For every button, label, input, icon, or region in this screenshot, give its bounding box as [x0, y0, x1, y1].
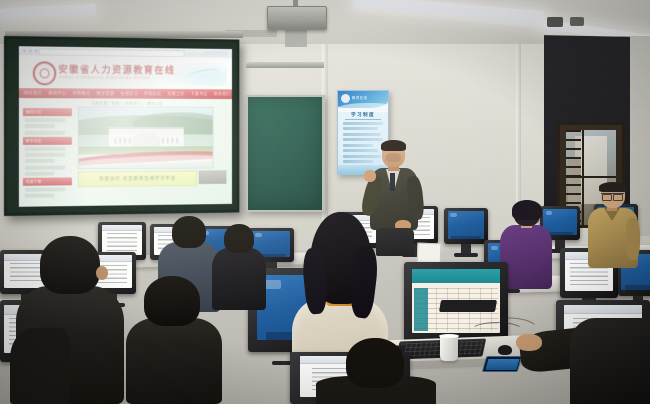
window-mullion-horizontal	[566, 176, 616, 179]
poster-line	[343, 127, 378, 130]
mouse[interactable]	[498, 345, 512, 355]
student-foreground-left-lower	[126, 276, 222, 404]
projection-screen[interactable]: 安徽省人力资源教育在线 Anhui Community Education On…	[4, 36, 239, 216]
sidebar-link[interactable]	[25, 131, 65, 135]
nav-item[interactable]: 在线学习	[120, 91, 138, 97]
monitor[interactable]	[444, 208, 488, 244]
sidebar-heading[interactable]: 资源下载	[23, 177, 72, 185]
sidebar-link[interactable]	[25, 187, 65, 191]
student-jacket	[570, 318, 650, 404]
sidebar-link[interactable]	[25, 165, 65, 169]
poster-title: 学习制度	[338, 112, 388, 118]
header-decoration	[161, 61, 226, 87]
eyeglasses-icon	[601, 193, 624, 199]
student-elderly-man	[586, 182, 644, 284]
promo-side-block	[199, 170, 227, 184]
page-main-column: 欢迎访问 社区教育在线学习平台	[76, 106, 228, 204]
sidebar-link[interactable]	[25, 194, 55, 198]
student-head	[224, 224, 254, 253]
projector-mount-drop	[285, 27, 307, 47]
sidebar-link[interactable]	[25, 153, 65, 157]
paper-cup[interactable]	[440, 335, 458, 361]
sidebar-heading[interactable]: 通知公告	[23, 108, 72, 116]
student-head	[172, 216, 206, 248]
sidebar-link[interactable]	[25, 118, 65, 122]
student-jacket	[126, 318, 222, 404]
student-shoulder	[10, 328, 70, 404]
projector-lens-icon	[547, 17, 563, 27]
nav-item[interactable]: 学院概况	[73, 90, 91, 96]
student-arm	[626, 218, 640, 260]
poster-line	[343, 122, 383, 125]
student-purple-hair	[512, 200, 542, 220]
promo-text: 欢迎访问 社区教育在线学习平台	[99, 176, 176, 183]
nav-item[interactable]: 师资队伍	[144, 91, 161, 97]
phone-screen	[485, 359, 519, 370]
nav-item[interactable]: 党建工作	[168, 91, 185, 97]
sidebar-link[interactable]	[25, 171, 55, 175]
mobile-phone[interactable]	[482, 356, 523, 372]
browser-toolbar-right	[204, 51, 228, 56]
poster-divider	[345, 119, 381, 120]
student-foreground-right	[570, 318, 650, 404]
site-header: 安徽省人力资源教育在线 Anhui Community Education On…	[19, 55, 232, 89]
poster-logo-text: 教育在线	[352, 95, 368, 100]
student-head	[40, 236, 100, 294]
promo-banner[interactable]: 欢迎访问 社区教育在线学习平台	[78, 171, 197, 188]
projected-webpage: 安徽省人力资源教育在线 Anhui Community Education On…	[19, 46, 232, 207]
instructor-hair	[381, 140, 406, 151]
university-seal-icon	[33, 61, 57, 85]
nav-item[interactable]: 下载专区	[191, 91, 208, 97]
campus-banner-image[interactable]	[78, 106, 214, 169]
sidebar-heading[interactable]: 教学动态	[23, 137, 72, 145]
keyboard[interactable]	[439, 300, 497, 312]
instructor-face-shadow	[386, 153, 401, 162]
student-head	[144, 276, 200, 326]
student-hand-right	[516, 334, 542, 351]
paper-cup-rim	[439, 334, 459, 338]
student-foreground-center	[316, 338, 436, 404]
sidebar-link[interactable]	[25, 159, 55, 163]
browser-window-dots-icon	[23, 49, 38, 52]
poster-line	[343, 133, 381, 136]
page-right-rail	[215, 107, 228, 167]
site-subtitle: Anhui Community Education Online	[59, 74, 150, 80]
student-ear	[96, 266, 108, 280]
nav-item[interactable]: 网站首页	[24, 90, 42, 96]
green-chalkboard	[246, 95, 325, 212]
student-foreground-left	[16, 236, 124, 404]
chalkboard-rail	[246, 62, 324, 68]
instructor-tie	[390, 173, 395, 191]
site-nav-bar[interactable]: 网站首页 新闻中心 学院概况 教学资源 在线学习 师资队伍 党建工作 下载专区 …	[19, 88, 232, 99]
poster-logo-icon	[341, 94, 350, 103]
nav-item[interactable]: 联系我们	[214, 91, 231, 97]
student-head	[346, 338, 404, 388]
instructor-raised-hand	[364, 170, 376, 182]
classroom-photo: 安徽省人力资源教育在线 Anhui Community Education On…	[0, 0, 650, 404]
projector-icon	[267, 6, 327, 30]
page-sidebar: 通知公告 教学动态 资源下载	[23, 108, 72, 205]
sidebar-link[interactable]	[25, 147, 65, 151]
student-purple-top	[500, 200, 554, 296]
nav-item[interactable]: 教学资源	[97, 91, 115, 97]
nav-item[interactable]: 新闻中心	[48, 90, 66, 96]
projector-vent-icon	[570, 17, 584, 26]
student-hair	[599, 182, 627, 192]
sidebar-link[interactable]	[25, 124, 55, 128]
